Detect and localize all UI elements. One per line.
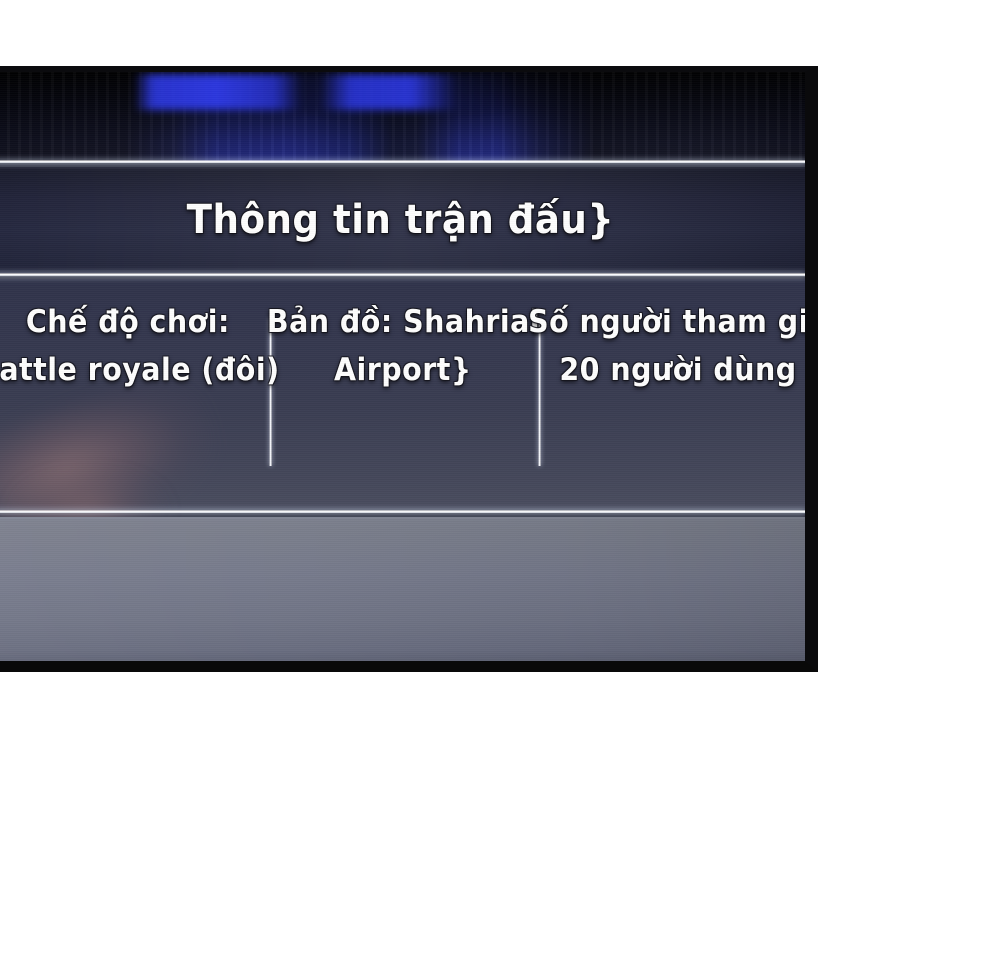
game-mode-label: Chế độ chơi:	[26, 304, 230, 340]
footer-band	[0, 517, 805, 661]
participants-label: Số người tham gia	[528, 304, 805, 340]
divider-under-title	[0, 273, 805, 277]
participants-value: 20 người dùng	[559, 352, 796, 388]
backdrop-top-band	[0, 72, 805, 161]
map-value: Airport}	[334, 352, 472, 388]
match-info-panel: Thông tin trận đấu} Chế độ chơi: Battle …	[0, 66, 818, 672]
footer-band-sheen	[0, 517, 805, 661]
map-label: Bản đồ: Shahrial	[266, 304, 539, 340]
column-divider-1	[269, 318, 272, 466]
divider-top	[0, 160, 805, 164]
divider-under-info	[0, 510, 805, 514]
game-mode-value: Battle royale (đôi)	[0, 352, 279, 388]
info-column-map: Bản đồ: Shahrial Airport}	[277, 304, 529, 388]
backdrop-blue-glow	[134, 74, 514, 110]
info-column-participants: Số người tham gia 20 người dùng	[547, 304, 805, 388]
match-info-panel-inner: Thông tin trận đấu} Chế độ chơi: Battle …	[0, 72, 805, 661]
panel-title: Thông tin trận đấu}	[24, 167, 776, 273]
title-band: Thông tin trận đấu}	[0, 167, 805, 273]
info-column-game-mode: Chế độ chơi: Battle royale (đôi)	[0, 304, 266, 388]
column-divider-2	[538, 318, 541, 466]
